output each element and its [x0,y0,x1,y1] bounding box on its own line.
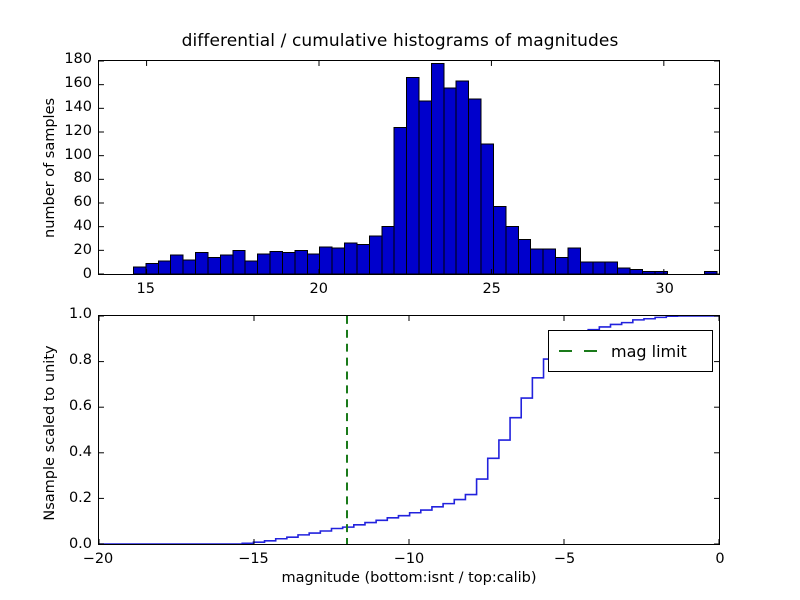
top-ytick-180: 180 [40,51,92,67]
differential-histogram-plot [99,61,719,274]
bottom-ytick-0.8: 0.8 [38,352,92,368]
top-xtick-30: 30 [640,281,690,297]
bottom-ytick-0.2: 0.2 [38,490,92,506]
bottom-ytick-1.0: 1.0 [38,306,92,322]
figure-canvas: differential / cumulative histograms of … [0,0,800,600]
top-panel-ylabel: number of samples [42,98,58,238]
bottom-xtick-0: 0 [690,551,750,567]
top-ytick-100: 100 [40,147,92,163]
bottom-ytick-0.0: 0.0 [38,536,92,552]
top-xtick-25: 25 [467,281,517,297]
legend-label-mag-limit: mag limit [611,342,687,361]
top-ytick-40: 40 [40,218,92,234]
top-ytick-0: 0 [40,266,92,282]
bottom-ytick-0.4: 0.4 [38,444,92,460]
top-panel-axes [98,60,720,275]
bottom-xtick--5: −5 [535,551,595,567]
bottom-ytick-0.6: 0.6 [38,398,92,414]
top-xtick-15: 15 [121,281,171,297]
legend-box: mag limit [548,330,713,372]
figure-title: differential / cumulative histograms of … [0,31,800,51]
top-xtick-20: 20 [294,281,344,297]
mag-limit-line-icon [559,350,597,352]
bottom-xtick--10: −10 [379,551,439,567]
top-ytick-120: 120 [40,123,92,139]
top-ytick-140: 140 [40,99,92,115]
figure-xlabel: magnitude (bottom:isnt / top:calib) [98,570,720,586]
bottom-xtick--20: −20 [68,551,128,567]
bottom-xtick--15: −15 [224,551,284,567]
top-ytick-80: 80 [40,170,92,186]
top-ytick-60: 60 [40,194,92,210]
top-ytick-160: 160 [40,75,92,91]
top-ytick-20: 20 [40,242,92,258]
